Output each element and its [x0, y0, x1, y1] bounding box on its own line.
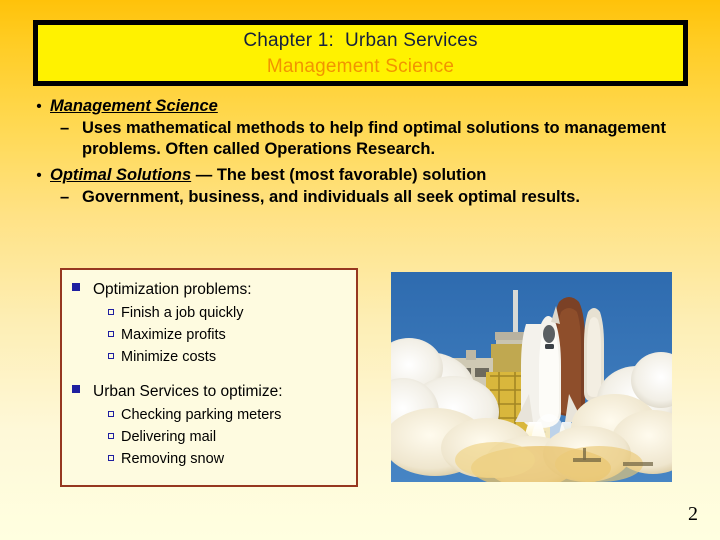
hollow-square-bullet-icon: [108, 353, 114, 359]
filled-square-bullet-icon: [72, 283, 80, 291]
bullet-dot-icon: •: [28, 165, 50, 186]
content-heading-text: Urban Services to optimize:: [93, 380, 283, 404]
list-item: Finish a job quickly: [62, 302, 356, 324]
list-item: Delivering mail: [62, 426, 356, 448]
term-optimal-solutions: Optimal Solutions: [50, 166, 191, 184]
list-item-label: Minimize costs: [121, 346, 216, 368]
bullet-dot-icon: •: [28, 96, 50, 117]
list-item-label: Checking parking meters: [121, 404, 281, 426]
slide-title-line-2: Management Science: [38, 54, 683, 80]
bullet-level2-government-business: – Government, business, and individuals …: [60, 187, 688, 208]
content-heading-urban-services: Urban Services to optimize:: [62, 380, 356, 404]
bullet-level2-uses-methods: – Uses mathematical methods to help find…: [60, 118, 688, 160]
optimization-content-box: Optimization problems: Finish a job quic…: [60, 268, 358, 487]
bullet-level1-text: Management Science: [50, 96, 688, 117]
list-item: Removing snow: [62, 448, 356, 470]
list-item-label: Delivering mail: [121, 426, 216, 448]
content-group-optimization-problems: Optimization problems: Finish a job quic…: [62, 270, 356, 368]
bullet-level1-management-science: • Management Science: [28, 96, 688, 117]
hollow-square-bullet-icon: [108, 455, 114, 461]
hollow-square-bullet-icon: [108, 331, 114, 337]
bullet-level1-optimal-solutions: • Optimal Solutions — The best (most fav…: [28, 165, 688, 186]
bullet-level1-text: Optimal Solutions — The best (most favor…: [50, 165, 688, 186]
hollow-square-bullet-icon: [108, 433, 114, 439]
content-heading-optimization-problems: Optimization problems:: [62, 278, 356, 302]
list-item: Checking parking meters: [62, 404, 356, 426]
page-number: 2: [688, 503, 698, 526]
content-heading-text: Optimization problems:: [93, 278, 252, 302]
filled-square-bullet-icon: [72, 385, 80, 393]
bullet-level2-text: Uses mathematical methods to help find o…: [82, 118, 688, 160]
list-item: Minimize costs: [62, 346, 356, 368]
hollow-square-bullet-icon: [108, 309, 114, 315]
hollow-square-bullet-icon: [108, 411, 114, 417]
term-management-science: Management Science: [50, 97, 218, 115]
content-group-urban-services: Urban Services to optimize: Checking par…: [62, 368, 356, 470]
list-item: Maximize profits: [62, 324, 356, 346]
slide-body-text: • Management Science – Uses mathematical…: [28, 96, 688, 208]
list-item-label: Finish a job quickly: [121, 302, 244, 324]
bullet-dash-icon: –: [60, 118, 82, 139]
space-shuttle-launch-photo: [391, 272, 672, 482]
list-item-label: Maximize profits: [121, 324, 226, 346]
slide-title-line-1: Chapter 1: Urban Services: [38, 28, 683, 54]
term-rest: — The best (most favorable) solution: [191, 166, 486, 184]
bullet-level2-text: Government, business, and individuals al…: [82, 187, 688, 208]
list-item-label: Removing snow: [121, 448, 224, 470]
bullet-dash-icon: –: [60, 187, 82, 208]
slide-title-box: Chapter 1: Urban Services Management Sci…: [33, 20, 688, 86]
presentation-slide: Chapter 1: Urban Services Management Sci…: [0, 0, 720, 540]
